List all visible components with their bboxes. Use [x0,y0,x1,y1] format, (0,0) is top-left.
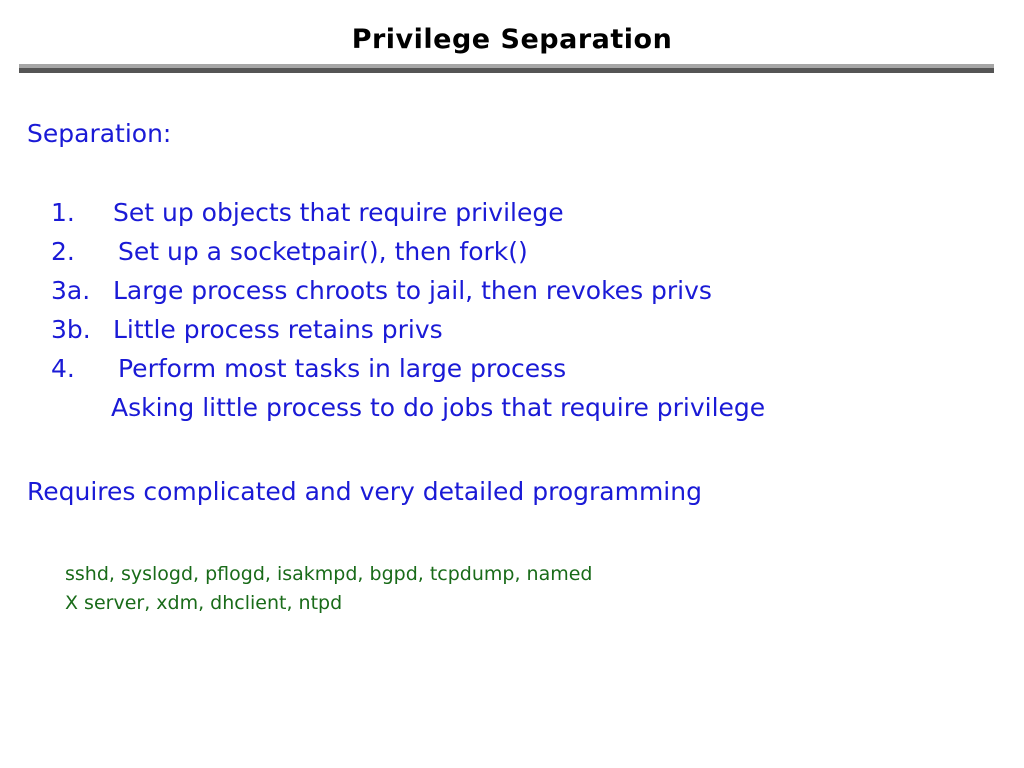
list-item-label: Set up a socketpair(), then fork() [113,237,528,267]
slide-body: Separation: 1. Set up objects that requi… [0,0,1024,768]
list-item-label: Little process retains privs [113,315,443,345]
list-item: 4. Perform most tasks in large process [51,354,991,393]
list-item-marker: 4. [51,354,113,384]
section-heading: Separation: [27,118,171,150]
list-item-marker: 1. [51,198,113,228]
steps-list: 1. Set up objects that require privilege… [51,198,991,393]
list-item: 2. Set up a socketpair(), then fork() [51,237,991,276]
step-sub-note: Asking little process to do jobs that re… [111,393,765,423]
list-item: 3b. Little process retains privs [51,315,991,354]
list-item-marker: 3b. [51,315,113,345]
list-item-label: Perform most tasks in large process [113,354,566,384]
list-item: 3a. Large process chroots to jail, then … [51,276,991,315]
list-item-label: Large process chroots to jail, then revo… [113,276,712,306]
example-line-daemons: sshd, syslogd, pflogd, isakmpd, bgpd, tc… [65,560,592,589]
list-item: 1. Set up objects that require privilege [51,198,991,237]
list-item-marker: 2. [51,237,113,267]
list-item-marker: 3a. [51,276,113,306]
examples-list: sshd, syslogd, pflogd, isakmpd, bgpd, tc… [65,560,592,618]
example-line-services: X server, xdm, dhclient, ntpd [65,589,592,618]
list-item-label: Set up objects that require privilege [113,198,564,228]
slide-canvas: Privilege Separation Separation: 1. Set … [0,0,1024,768]
summary-text: Requires complicated and very detailed p… [27,477,702,507]
